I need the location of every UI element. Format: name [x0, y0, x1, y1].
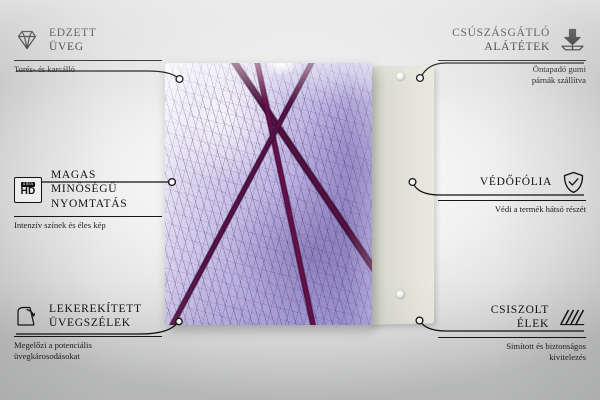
feature-divider	[14, 336, 162, 337]
feature-rounded-glass-edges: LEKEREKÍTETT ÜVEGSZÉLEK Megelőzi a poten…	[14, 302, 162, 363]
feature-divider	[14, 60, 162, 61]
feature-subtitle: Védi a termék hátsó részét	[438, 204, 586, 215]
ultra-hd-badge-icon: ultra HD	[14, 177, 42, 203]
feature-title-line: NYOMTATÁS	[51, 197, 162, 211]
feature-title: MAGAS MINŐSÉGŰ NYOMTATÁS	[51, 168, 162, 211]
feature-title: CSÚSZÁSGÁTLÓ ALÁTÉTEK	[452, 26, 550, 55]
anti-slip-pad	[396, 290, 405, 299]
feature-header: ultra HD MAGAS MINŐSÉGŰ NYOMTATÁS	[14, 168, 162, 211]
down-arrow-tray-icon	[559, 27, 586, 53]
feature-title: CSISZOLT ÉLEK	[491, 303, 549, 332]
feature-title: VÉDŐFÓLIA	[480, 175, 552, 189]
feature-divider	[438, 60, 586, 61]
feature-divider	[438, 200, 586, 201]
feature-title: EDZETT ÜVEG	[49, 26, 97, 55]
feature-header: EDZETT ÜVEG	[14, 26, 162, 55]
feature-header: LEKEREKÍTETT ÜVEGSZÉLEK	[14, 302, 162, 331]
feature-high-quality-print: ultra HD MAGAS MINŐSÉGŰ NYOMTATÁS Intenz…	[14, 168, 162, 232]
rounded-corner-icon	[14, 304, 40, 329]
feature-title-line: LEKEREKÍTETT	[49, 302, 142, 316]
feature-polished-edges: CSISZOLT ÉLEK Simított és biztonságos ki…	[438, 303, 586, 364]
glass-board-front	[165, 63, 372, 325]
feature-subtitle: Intenzív színek és éles kép	[14, 220, 162, 231]
feature-title-line: CSÚSZÁSGÁTLÓ	[452, 26, 550, 40]
feature-title-line: CSISZOLT	[491, 303, 549, 317]
feature-header: VÉDŐFÓLIA	[438, 170, 586, 195]
feature-tempered-glass: EDZETT ÜVEG Torés- és karcálló	[14, 26, 162, 75]
diamond-icon	[14, 28, 40, 52]
feature-divider	[438, 337, 586, 338]
feature-title: LEKEREKÍTETT ÜVEGSZÉLEK	[49, 302, 142, 331]
feature-title-line: ÉLEK	[491, 317, 549, 331]
product-back-panel	[368, 65, 434, 324]
feature-title-line: ÜVEGSZÉLEK	[49, 316, 142, 330]
anti-slip-pad	[396, 72, 405, 81]
feature-subtitle: Torés- és karcálló	[14, 64, 162, 75]
feature-title-line: VÉDŐFÓLIA	[480, 175, 552, 189]
feature-header: CSÚSZÁSGÁTLÓ ALÁTÉTEK	[438, 26, 586, 55]
feature-subtitle: Öntapadó gumi párnák szállítva	[438, 64, 586, 87]
feature-subtitle: Megelőzi a potenciális üvegkárosodásokat	[14, 340, 162, 363]
leaf-vein-artwork	[165, 63, 372, 325]
feature-divider	[14, 216, 162, 217]
badge-main-label: HD	[21, 187, 36, 198]
feature-header: CSISZOLT ÉLEK	[438, 303, 586, 332]
shield-check-icon	[561, 170, 586, 195]
feature-subtitle: Simított és biztonságos kivitelezés	[438, 341, 586, 364]
feature-anti-slip-pads: CSÚSZÁSGÁTLÓ ALÁTÉTEK Öntapadó gumi párn…	[438, 26, 586, 87]
hatch-lines-icon	[558, 306, 586, 328]
feature-title-line: MAGAS MINŐSÉGŰ	[51, 168, 162, 197]
infographic-canvas: EDZETT ÜVEG Torés- és karcálló ultra HD …	[0, 0, 600, 400]
feature-title-line: ALÁTÉTEK	[452, 40, 550, 54]
feature-protective-foil: VÉDŐFÓLIA Védi a termék hátsó részét	[438, 170, 586, 215]
